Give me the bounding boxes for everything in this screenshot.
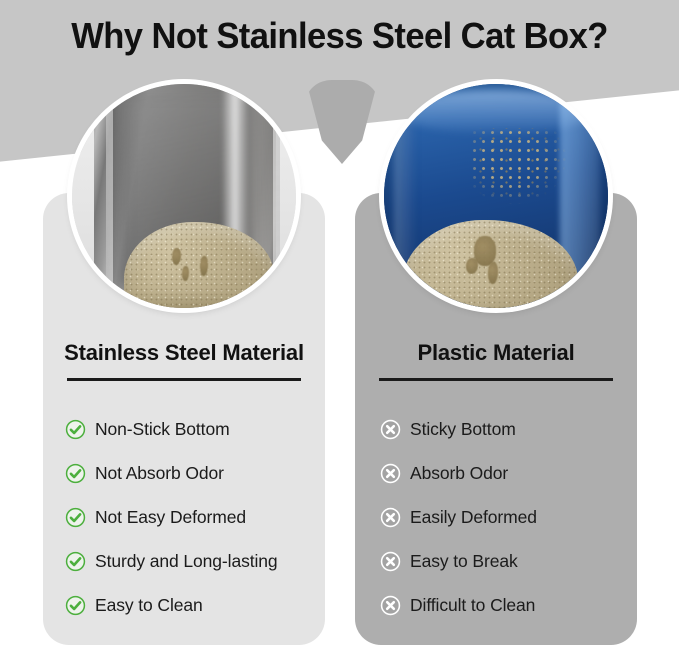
list-item: Easy to Break <box>380 539 623 583</box>
plastic-scene <box>384 84 608 308</box>
feature-label: Not Easy Deformed <box>95 507 246 528</box>
x-circle-icon <box>380 463 401 484</box>
check-circle-icon <box>65 419 86 440</box>
list-item: Sturdy and Long-lasting <box>65 539 311 583</box>
panel-heading-rule <box>379 378 613 381</box>
list-item: Not Absorb Odor <box>65 451 311 495</box>
feature-label: Easily Deformed <box>410 507 537 528</box>
list-item: Sticky Bottom <box>380 407 623 451</box>
check-circle-icon <box>65 463 86 484</box>
x-circle-icon <box>380 551 401 572</box>
feature-label: Absorb Odor <box>410 463 508 484</box>
x-circle-icon <box>380 595 401 616</box>
feature-label: Easy to Break <box>410 551 518 572</box>
list-item: Difficult to Clean <box>380 583 623 627</box>
panel-heading-rule <box>67 378 301 381</box>
feature-list-plastic: Sticky Bottom Absorb Odor Easily Deforme… <box>380 407 623 627</box>
feature-label: Not Absorb Odor <box>95 463 224 484</box>
feature-label: Sturdy and Long-lasting <box>95 551 278 572</box>
feature-label: Sticky Bottom <box>410 419 516 440</box>
feature-label: Easy to Clean <box>95 595 203 616</box>
stainless-steel-litter-box-photo <box>72 84 296 308</box>
check-circle-icon <box>65 595 86 616</box>
steel-scene <box>72 84 296 308</box>
list-item: Not Easy Deformed <box>65 495 311 539</box>
blue-plastic-litter-box-photo <box>384 84 608 308</box>
x-circle-icon <box>380 507 401 528</box>
feature-label: Difficult to Clean <box>410 595 535 616</box>
feature-list-stainless: Non-Stick Bottom Not Absorb Odor Not Eas… <box>65 407 311 627</box>
x-circle-icon <box>380 419 401 440</box>
list-item: Easily Deformed <box>380 495 623 539</box>
check-circle-icon <box>65 507 86 528</box>
stuck-litter-grains <box>470 128 566 204</box>
panel-heading-plastic: Plastic Material <box>355 340 637 366</box>
panel-heading-stainless: Stainless Steel Material <box>43 340 325 366</box>
check-circle-icon <box>65 551 86 572</box>
list-item: Absorb Odor <box>380 451 623 495</box>
list-item: Non-Stick Bottom <box>65 407 311 451</box>
list-item: Easy to Clean <box>65 583 311 627</box>
feature-label: Non-Stick Bottom <box>95 419 230 440</box>
